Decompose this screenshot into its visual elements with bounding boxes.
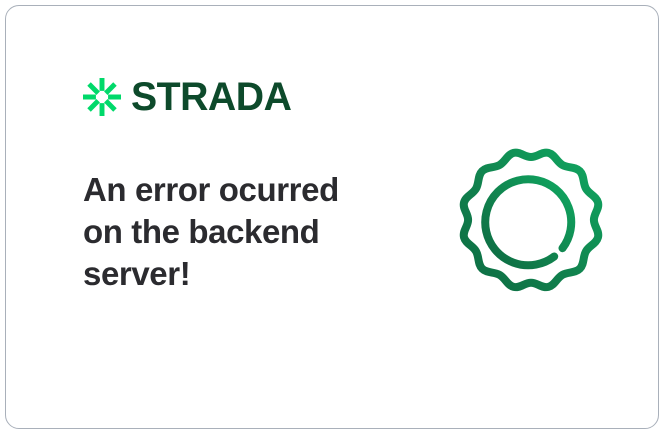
strada-asterisk-icon bbox=[83, 78, 121, 116]
error-card: STRADA An error ocurred on the backend s… bbox=[5, 5, 659, 429]
brand-wordmark: STRADA bbox=[131, 77, 291, 117]
gear-illustration bbox=[450, 144, 612, 306]
error-message: An error ocurred on the backend server! bbox=[83, 169, 383, 295]
brand-lockup: STRADA bbox=[83, 77, 295, 117]
